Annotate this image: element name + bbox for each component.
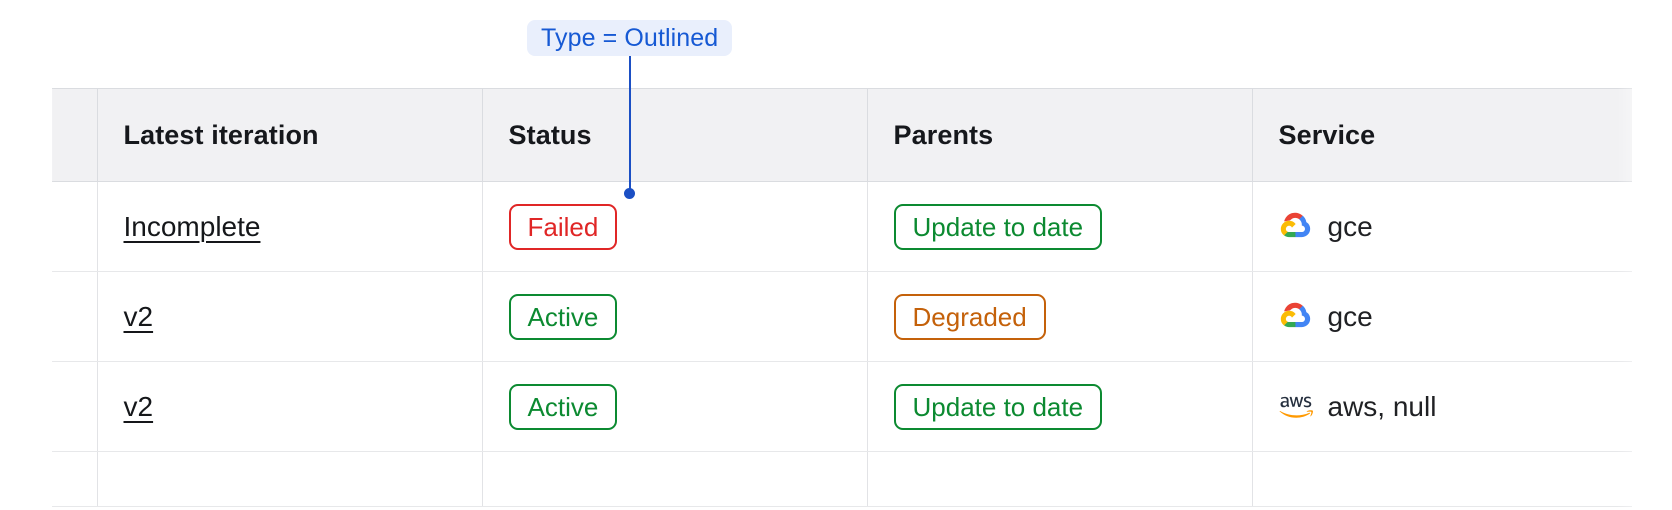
status-badge[interactable]: Active [509, 294, 618, 340]
parents-badge[interactable]: Degraded [894, 294, 1046, 340]
parents-badge[interactable]: Update to date [894, 384, 1103, 430]
service-label: aws, null [1328, 391, 1437, 423]
column-header-parents[interactable]: Parents [867, 89, 1252, 182]
column-header-latest-iteration[interactable]: Latest iteration [97, 89, 482, 182]
cell-latest-iteration: v2 [97, 272, 482, 362]
column-header-status[interactable]: Status [482, 89, 867, 182]
latest-iteration-link[interactable]: v2 [124, 391, 154, 422]
table-row[interactable] [52, 452, 1632, 507]
status-badge[interactable]: Failed [509, 204, 618, 250]
status-table: Latest iteration Status Parents Service … [52, 88, 1632, 507]
annotation-badge[interactable]: Type = Outlined [527, 20, 732, 56]
latest-iteration-link[interactable]: Incomplete [124, 211, 261, 242]
cell-service [1252, 452, 1632, 507]
cell-service: aws, null [1252, 362, 1632, 452]
cell-latest-iteration: v2 [97, 362, 482, 452]
service-value: aws, null [1279, 390, 1633, 424]
cell-latest-iteration: Incomplete [97, 182, 482, 272]
google-cloud-icon [1279, 210, 1313, 244]
cell-service: gce [1252, 272, 1632, 362]
table-header-row: Latest iteration Status Parents Service [52, 89, 1632, 182]
table-row[interactable]: v2 Active Update to date [52, 362, 1632, 452]
cell-latest-iteration [97, 452, 482, 507]
cell-status [482, 452, 867, 507]
row-gutter-cell [52, 362, 97, 452]
row-gutter-cell [52, 452, 97, 507]
service-label: gce [1328, 211, 1373, 243]
cell-status: Active [482, 362, 867, 452]
table-viewport: Latest iteration Status Parents Service … [0, 88, 1672, 510]
cell-parents: Update to date [867, 362, 1252, 452]
row-gutter-cell [52, 182, 97, 272]
table-row[interactable]: Incomplete Failed Update to date [52, 182, 1632, 272]
cell-status: Active [482, 272, 867, 362]
column-header-service[interactable]: Service [1252, 89, 1632, 182]
column-header-gutter [52, 89, 97, 182]
cell-parents: Degraded [867, 272, 1252, 362]
service-value: gce [1279, 300, 1633, 334]
service-label: gce [1328, 301, 1373, 333]
row-gutter-cell [52, 272, 97, 362]
cell-parents: Update to date [867, 182, 1252, 272]
left-edge-fade [0, 88, 55, 510]
table-row[interactable]: v2 Active Degraded [52, 272, 1632, 362]
cell-status: Failed [482, 182, 867, 272]
status-badge[interactable]: Active [509, 384, 618, 430]
parents-badge[interactable]: Update to date [894, 204, 1103, 250]
cell-parents [867, 452, 1252, 507]
google-cloud-icon [1279, 300, 1313, 334]
table-header: Latest iteration Status Parents Service [52, 89, 1632, 182]
aws-icon [1279, 390, 1313, 424]
table-body: Incomplete Failed Update to date [52, 182, 1632, 507]
cell-service: gce [1252, 182, 1632, 272]
latest-iteration-link[interactable]: v2 [124, 301, 154, 332]
service-value: gce [1279, 210, 1633, 244]
